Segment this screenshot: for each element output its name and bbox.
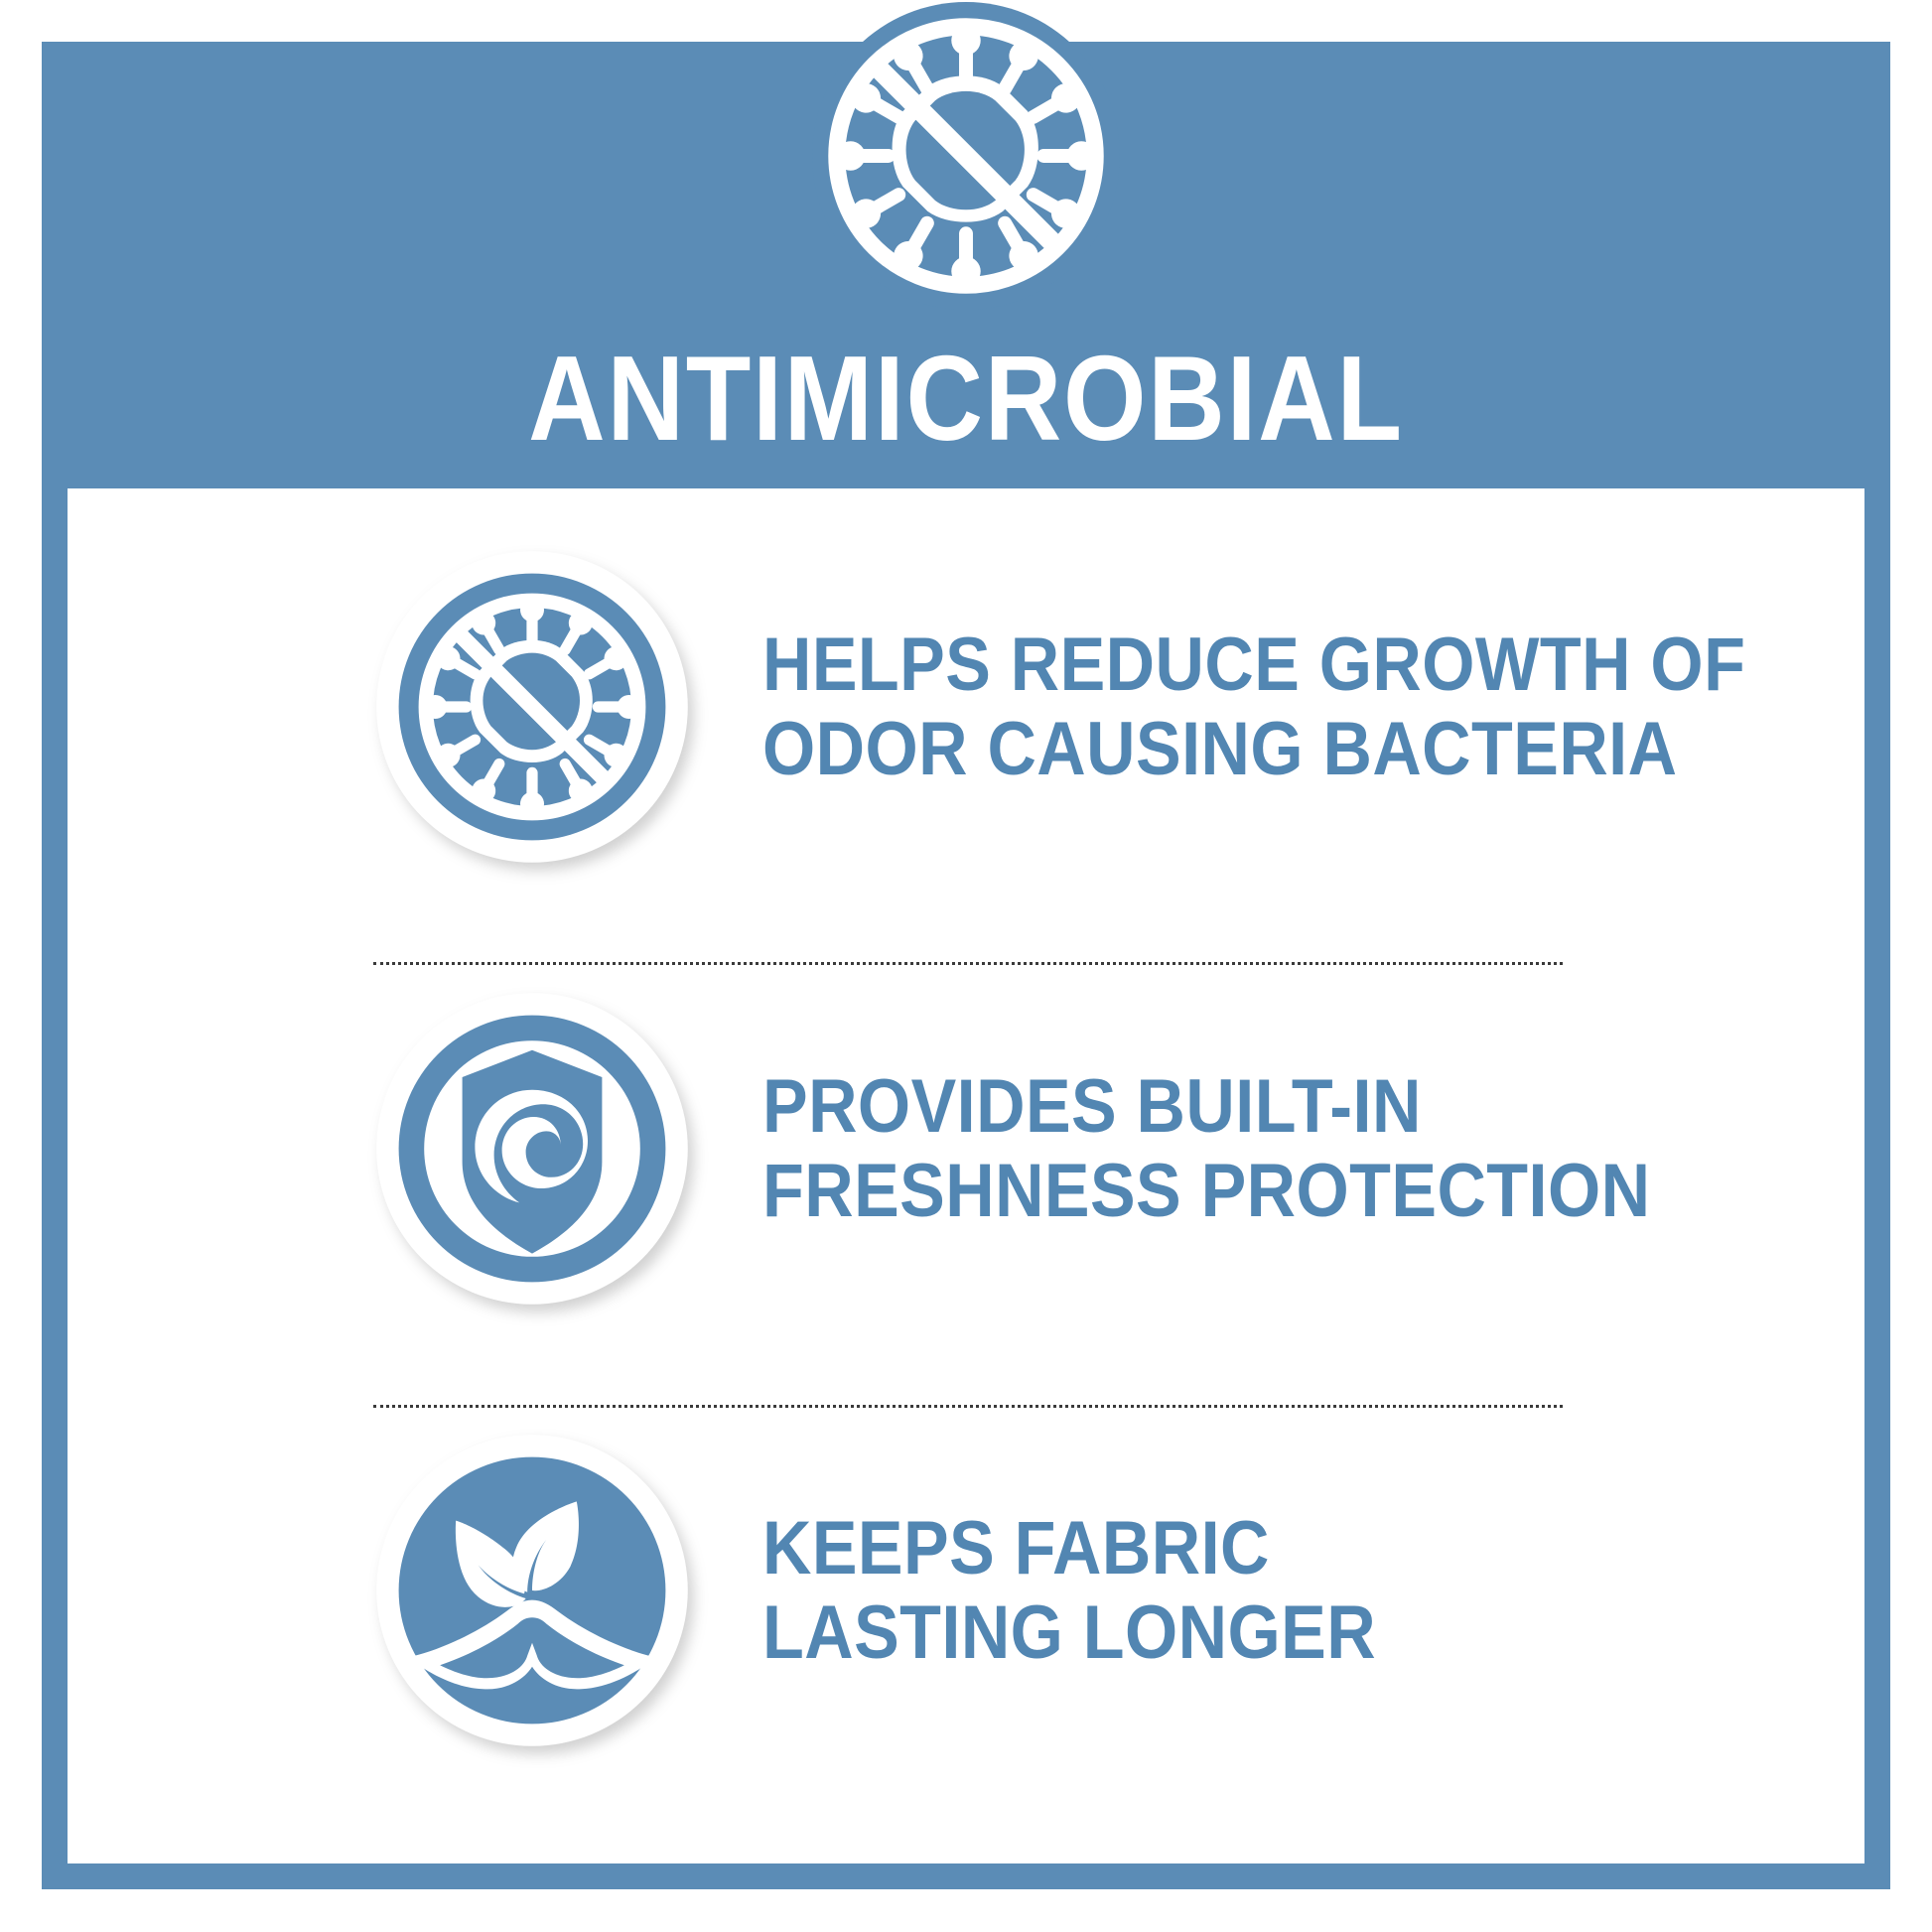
feature-text-line: ODOR CAUSING BACTERIA [762, 707, 1745, 791]
no-germ-icon [812, 2, 1120, 310]
feature-text-line: HELPS REDUCE GROWTH OF [762, 622, 1745, 707]
list-item: HELPS REDUCE GROWTH OF ODOR CAUSING BACT… [68, 498, 1864, 915]
feature-text-line: PROVIDES BUILT-IN [762, 1064, 1651, 1149]
antimicrobial-infographic: ANTIMICROBIAL [0, 0, 1932, 1932]
feature-text: KEEPS FABRIC LASTING LONGER [762, 1506, 1376, 1675]
page-title: ANTIMICROBIAL [153, 338, 1780, 459]
list-item: KEEPS FABRIC LASTING LONGER [68, 1382, 1864, 1799]
leaf-sprout-icon [373, 1432, 691, 1749]
feature-text: PROVIDES BUILT-IN FRESHNESS PROTECTION [762, 1064, 1651, 1233]
no-germ-icon [373, 548, 691, 866]
shield-freshness-icon [373, 990, 691, 1308]
list-item: PROVIDES BUILT-IN FRESHNESS PROTECTION [68, 940, 1864, 1357]
feature-text-line: LASTING LONGER [762, 1590, 1376, 1675]
feature-list: HELPS REDUCE GROWTH OF ODOR CAUSING BACT… [68, 488, 1864, 1863]
feature-text-line: FRESHNESS PROTECTION [762, 1149, 1651, 1233]
header-band: ANTIMICROBIAL [42, 42, 1890, 488]
feature-text-line: KEEPS FABRIC [762, 1506, 1376, 1590]
feature-text: HELPS REDUCE GROWTH OF ODOR CAUSING BACT… [762, 622, 1745, 791]
